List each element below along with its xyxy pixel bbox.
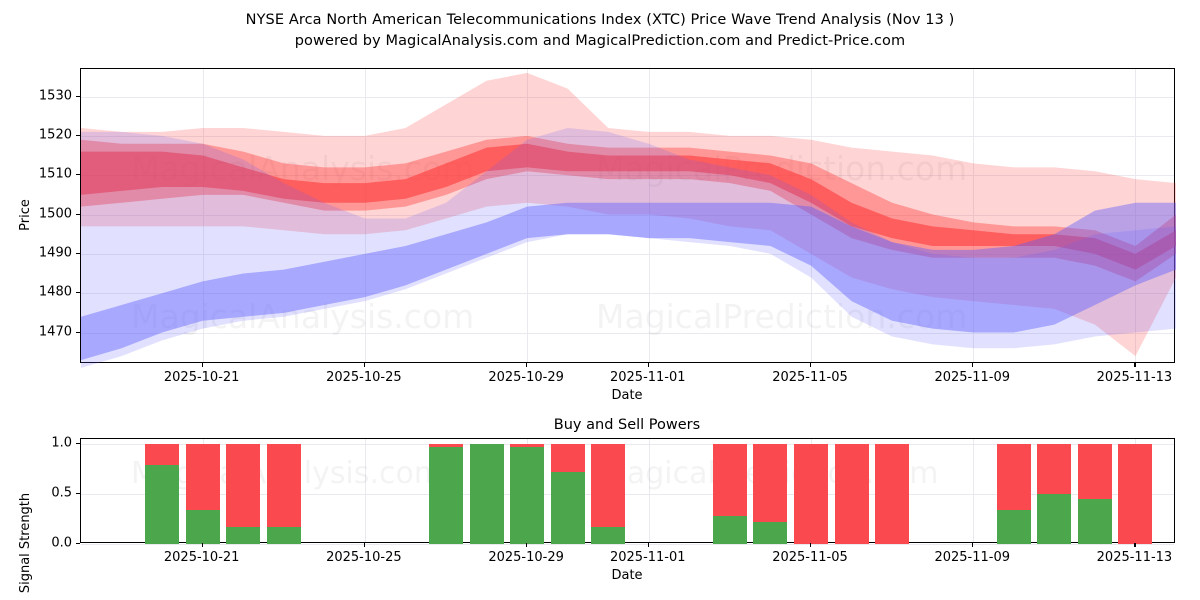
signal-bar[interactable] (1037, 439, 1071, 544)
price-x-tick-label: 2025-11-05 (772, 370, 848, 385)
sell-power-segment (267, 444, 301, 527)
sell-power-segment (997, 444, 1031, 510)
buy-power-segment (591, 527, 625, 544)
price-x-tick-mark (1134, 363, 1135, 367)
signal-x-tick-mark (810, 543, 811, 547)
chart-title-line-2: powered by MagicalAnalysis.com and Magic… (0, 31, 1200, 52)
sell-power-segment (551, 444, 585, 472)
sell-power-segment (1118, 444, 1152, 544)
signal-bars-container (81, 439, 1174, 542)
signal-bar[interactable] (186, 439, 220, 544)
price-x-tick-mark (526, 363, 527, 367)
buy-power-segment (551, 472, 585, 544)
price-y-tick-mark (76, 135, 80, 136)
signal-x-tick-label: 2025-11-01 (610, 550, 686, 565)
signal-y-tick-mark (76, 543, 80, 544)
price-x-tick-label: 2025-11-01 (610, 370, 686, 385)
price-wave-bands (81, 69, 1176, 364)
price-x-tick-label: 2025-10-29 (488, 370, 564, 385)
signal-x-tick-label: 2025-11-13 (1097, 550, 1173, 565)
buy-power-segment (1037, 494, 1071, 544)
signal-bar[interactable] (429, 439, 463, 544)
chart-title-block: NYSE Arca North American Telecommunicati… (0, 10, 1200, 52)
buy-power-segment (186, 510, 220, 544)
signal-plot-title: Buy and Sell Powers (554, 417, 700, 433)
price-y-tick-label: 1480 (12, 285, 72, 300)
signal-x-tick-label: 2025-10-25 (326, 550, 402, 565)
signal-bar[interactable] (470, 439, 504, 544)
buy-power-segment (510, 447, 544, 544)
price-y-tick-label: 1470 (12, 324, 72, 339)
signal-bar[interactable] (591, 439, 625, 544)
signal-x-tick-mark (648, 543, 649, 547)
signal-bar[interactable] (875, 439, 909, 544)
price-wave-plot-area: MagicalAnalysis.comMagicalPrediction.com… (80, 68, 1175, 363)
chart-title-line-1: NYSE Arca North American Telecommunicati… (0, 10, 1200, 31)
signal-bar[interactable] (1118, 439, 1152, 544)
buy-power-segment (713, 516, 747, 544)
signal-bar[interactable] (267, 439, 301, 544)
price-y-tick-mark (76, 292, 80, 293)
price-y-tick-mark (76, 253, 80, 254)
signal-y-tick-label: 1.0 (12, 436, 72, 451)
signal-y-tick-mark (76, 443, 80, 444)
signal-bar[interactable] (753, 439, 787, 544)
price-x-tick-label: 2025-11-09 (934, 370, 1010, 385)
signal-gridline-h (81, 544, 1174, 545)
signal-y-tick-mark (76, 493, 80, 494)
buy-sell-powers-plot-area: MagicalAnalysis.comMagicalPrediction.com (80, 438, 1175, 543)
price-x-tick-label: 2025-10-21 (164, 370, 240, 385)
sell-power-segment (713, 444, 747, 516)
sell-power-segment (753, 444, 787, 522)
buy-power-segment (429, 447, 463, 544)
price-y-tick-label: 1530 (12, 88, 72, 103)
signal-bar[interactable] (1078, 439, 1112, 544)
price-y-tick-mark (76, 174, 80, 175)
price-x-tick-mark (810, 363, 811, 367)
signal-x-axis-label: Date (611, 568, 642, 583)
chart-page: NYSE Arca North American Telecommunicati… (0, 0, 1200, 600)
signal-bar[interactable] (510, 439, 544, 544)
signal-bar[interactable] (835, 439, 869, 544)
price-y-tick-label: 1510 (12, 167, 72, 182)
buy-power-segment (145, 465, 179, 544)
sell-power-segment (1037, 444, 1071, 494)
signal-bar[interactable] (145, 439, 179, 544)
sell-power-segment (186, 444, 220, 510)
price-y-tick-label: 1520 (12, 127, 72, 142)
signal-x-tick-mark (972, 543, 973, 547)
sell-power-segment (1078, 444, 1112, 499)
price-y-tick-mark (76, 214, 80, 215)
signal-x-tick-label: 2025-11-09 (934, 550, 1010, 565)
buy-power-segment (267, 527, 301, 544)
price-y-tick-label: 1490 (12, 245, 72, 260)
price-x-tick-mark (202, 363, 203, 367)
signal-x-tick-label: 2025-11-05 (772, 550, 848, 565)
signal-x-tick-label: 2025-10-29 (488, 550, 564, 565)
buy-power-segment (997, 510, 1031, 544)
signal-bar[interactable] (551, 439, 585, 544)
buy-power-segment (470, 444, 504, 544)
sell-power-segment (875, 444, 909, 544)
price-y-tick-mark (76, 96, 80, 97)
sell-power-segment (794, 444, 828, 544)
signal-bar[interactable] (713, 439, 747, 544)
price-y-axis-label: Price (18, 199, 33, 231)
sell-power-segment (835, 444, 869, 544)
price-x-tick-mark (648, 363, 649, 367)
signal-x-tick-mark (364, 543, 365, 547)
price-x-tick-label: 2025-10-25 (326, 370, 402, 385)
signal-bar[interactable] (997, 439, 1031, 544)
signal-x-tick-label: 2025-10-21 (164, 550, 240, 565)
signal-bar[interactable] (226, 439, 260, 544)
sell-power-segment (591, 444, 625, 527)
signal-x-tick-mark (202, 543, 203, 547)
price-x-tick-mark (972, 363, 973, 367)
buy-power-segment (1078, 499, 1112, 544)
signal-bar[interactable] (794, 439, 828, 544)
sell-power-segment (226, 444, 260, 527)
signal-x-tick-mark (526, 543, 527, 547)
price-x-axis-label: Date (611, 388, 642, 403)
price-y-tick-mark (76, 332, 80, 333)
signal-y-axis-label: Signal Strength (18, 493, 33, 593)
buy-power-segment (753, 522, 787, 544)
sell-power-segment (145, 444, 179, 465)
price-x-tick-mark (364, 363, 365, 367)
signal-x-tick-mark (1134, 543, 1135, 547)
buy-power-segment (226, 527, 260, 544)
price-x-tick-label: 2025-11-13 (1097, 370, 1173, 385)
